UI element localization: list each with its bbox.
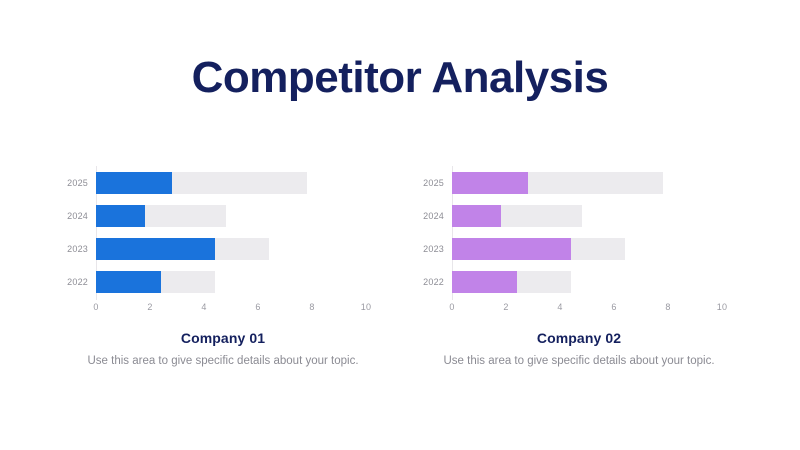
x-axis-tick-label: 10 xyxy=(361,302,371,312)
bar-row: 2025 xyxy=(48,166,398,199)
x-axis-tick-label: 2 xyxy=(147,302,152,312)
caption-company-01: Company 01 Use this area to give specifi… xyxy=(48,330,398,370)
slide-canvas: Competitor Analysis 2025202420232022 024… xyxy=(0,0,800,450)
x-axis-tick-label: 6 xyxy=(611,302,616,312)
bar-value xyxy=(96,172,172,194)
caption-title: Company 02 xyxy=(404,330,754,346)
bar-value xyxy=(96,271,161,293)
y-axis-tick-label: 2024 xyxy=(404,211,444,221)
x-axis-company-02: 0246810 xyxy=(452,300,722,316)
caption-body: Use this area to give specific details a… xyxy=(404,353,754,370)
bar-track xyxy=(96,205,366,227)
bar-row: 2023 xyxy=(404,232,754,265)
x-axis-tick-label: 2 xyxy=(503,302,508,312)
y-axis-tick-label: 2023 xyxy=(404,244,444,254)
bar-rows-company-02: 2025202420232022 xyxy=(404,166,754,298)
y-axis-tick-label: 2025 xyxy=(404,178,444,188)
x-axis-tick-label: 8 xyxy=(309,302,314,312)
y-axis-tick-label: 2025 xyxy=(48,178,88,188)
caption-company-02: Company 02 Use this area to give specifi… xyxy=(404,330,754,370)
caption-body: Use this area to give specific details a… xyxy=(48,353,398,370)
bar-track xyxy=(452,271,722,293)
bar-track xyxy=(96,271,366,293)
bar-row: 2022 xyxy=(404,265,754,298)
y-axis-tick-label: 2022 xyxy=(48,277,88,287)
page-title: Competitor Analysis xyxy=(0,54,800,102)
bar-value xyxy=(452,271,517,293)
bar-track xyxy=(96,238,366,260)
caption-title: Company 01 xyxy=(48,330,398,346)
x-axis-tick-label: 10 xyxy=(717,302,727,312)
x-axis-tick-label: 4 xyxy=(201,302,206,312)
bar-track xyxy=(452,172,722,194)
bar-track xyxy=(96,172,366,194)
bar-value xyxy=(452,172,528,194)
bar-value xyxy=(452,238,571,260)
bar-chart-company-02: 2025202420232022 0246810 xyxy=(404,160,754,310)
bar-track xyxy=(452,238,722,260)
bar-value xyxy=(452,205,501,227)
bar-track xyxy=(452,205,722,227)
x-axis-tick-label: 6 xyxy=(255,302,260,312)
bar-row: 2024 xyxy=(404,199,754,232)
chart-panel-company-01: 2025202420232022 0246810 Company 01 Use … xyxy=(48,160,398,410)
bar-row: 2025 xyxy=(404,166,754,199)
y-axis-tick-label: 2024 xyxy=(48,211,88,221)
bar-row: 2024 xyxy=(48,199,398,232)
chart-panel-company-02: 2025202420232022 0246810 Company 02 Use … xyxy=(404,160,754,410)
bar-value xyxy=(96,205,145,227)
bar-row: 2022 xyxy=(48,265,398,298)
bar-rows-company-01: 2025202420232022 xyxy=(48,166,398,298)
x-axis-tick-label: 8 xyxy=(665,302,670,312)
x-axis-tick-label: 0 xyxy=(93,302,98,312)
x-axis-tick-label: 0 xyxy=(449,302,454,312)
bar-value xyxy=(96,238,215,260)
y-axis-tick-label: 2022 xyxy=(404,277,444,287)
bar-chart-company-01: 2025202420232022 0246810 xyxy=(48,160,398,310)
x-axis-tick-label: 4 xyxy=(557,302,562,312)
x-axis-company-01: 0246810 xyxy=(96,300,366,316)
bar-row: 2023 xyxy=(48,232,398,265)
y-axis-tick-label: 2023 xyxy=(48,244,88,254)
